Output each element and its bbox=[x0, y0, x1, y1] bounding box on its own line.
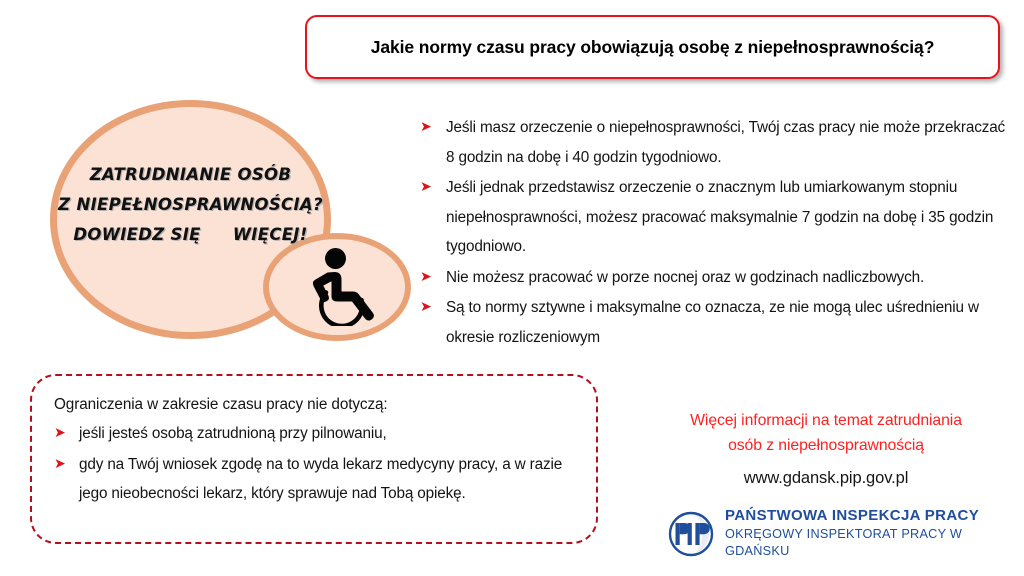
page-title-banner: Jakie normy czasu pracy obowiązują osobę… bbox=[305, 15, 1000, 79]
organization-branch: OKRĘGOWY INSPEKTORAT PRACY W GDAŃSKU bbox=[725, 526, 1024, 560]
more-info-line-1: Więcej informacji na temat zatrudniania bbox=[640, 408, 1012, 433]
organization-name: PAŃSTWOWA INSPEKCJA PRACY bbox=[725, 507, 1024, 525]
promo-text-block: ZATRUDNIANIE OSÓB Z NIEPEŁNOSPRAWNOŚCIĄ?… bbox=[52, 160, 329, 250]
list-item: ➤ Nie możesz pracować w porze nocnej ora… bbox=[420, 263, 1016, 293]
list-item-text: Są to normy sztywne i maksymalne co ozna… bbox=[446, 293, 1016, 352]
footer-organization-names: PAŃSTWOWA INSPEKCJA PRACY OKRĘGOWY INSPE… bbox=[725, 507, 1024, 560]
work-time-rules-list: ➤ Jeśli masz orzeczenie o niepełnosprawn… bbox=[420, 113, 1016, 353]
list-item: ➤ Jeśli masz orzeczenie o niepełnosprawn… bbox=[420, 113, 1016, 172]
promo-line-3: DOWIEDZ SIĘ bbox=[73, 225, 200, 244]
list-item-text: Nie możesz pracować w porze nocnej oraz … bbox=[446, 263, 1016, 293]
pip-footer-logo: PAŃSTWOWA INSPEKCJA PRACY OKRĘGOWY INSPE… bbox=[668, 507, 1024, 560]
promo-line-1: ZATRUDNIANIE OSÓB bbox=[52, 160, 329, 190]
list-item-text: Jeśli masz orzeczenie o niepełnosprawnoś… bbox=[446, 113, 1016, 172]
arrow-bullet-icon: ➤ bbox=[420, 263, 446, 293]
list-item: ➤ Są to normy sztywne i maksymalne co oz… bbox=[420, 293, 1016, 352]
more-information-block: Więcej informacji na temat zatrudniania … bbox=[640, 408, 1012, 490]
more-info-line-2: osób z niepełnosprawnością bbox=[640, 433, 1012, 458]
wheelchair-accessibility-icon bbox=[305, 248, 377, 326]
page-title: Jakie normy czasu pracy obowiązują osobę… bbox=[371, 37, 935, 58]
list-item: ➤ jeśli jesteś osobą zatrudnioną przy pi… bbox=[54, 419, 576, 449]
list-item: ➤ Jeśli jednak przedstawisz orzeczenie o… bbox=[420, 173, 1016, 262]
website-url[interactable]: www.gdansk.pip.gov.pl bbox=[640, 466, 1012, 490]
arrow-bullet-icon: ➤ bbox=[54, 450, 79, 480]
arrow-bullet-icon: ➤ bbox=[420, 113, 446, 143]
list-item-text: Jeśli jednak przedstawisz orzeczenie o z… bbox=[446, 173, 1016, 262]
arrow-bullet-icon: ➤ bbox=[420, 293, 446, 323]
list-item-text: gdy na Twój wniosek zgodę na to wyda lek… bbox=[79, 450, 576, 508]
exceptions-intro-text: Ograniczenia w zakresie czasu pracy nie … bbox=[54, 390, 576, 419]
pip-circular-logo-icon bbox=[668, 511, 714, 557]
arrow-bullet-icon: ➤ bbox=[420, 173, 446, 203]
list-item-text: jeśli jesteś osobą zatrudnioną przy piln… bbox=[79, 419, 576, 448]
exceptions-callout-box: Ograniczenia w zakresie czasu pracy nie … bbox=[30, 374, 598, 544]
promo-line-2: Z NIEPEŁNOSPRAWNOŚCIĄ? bbox=[52, 190, 329, 220]
arrow-bullet-icon: ➤ bbox=[54, 419, 79, 449]
list-item: ➤ gdy na Twój wniosek zgodę na to wyda l… bbox=[54, 450, 576, 508]
promo-line-4: WIĘCEJ! bbox=[207, 225, 308, 244]
